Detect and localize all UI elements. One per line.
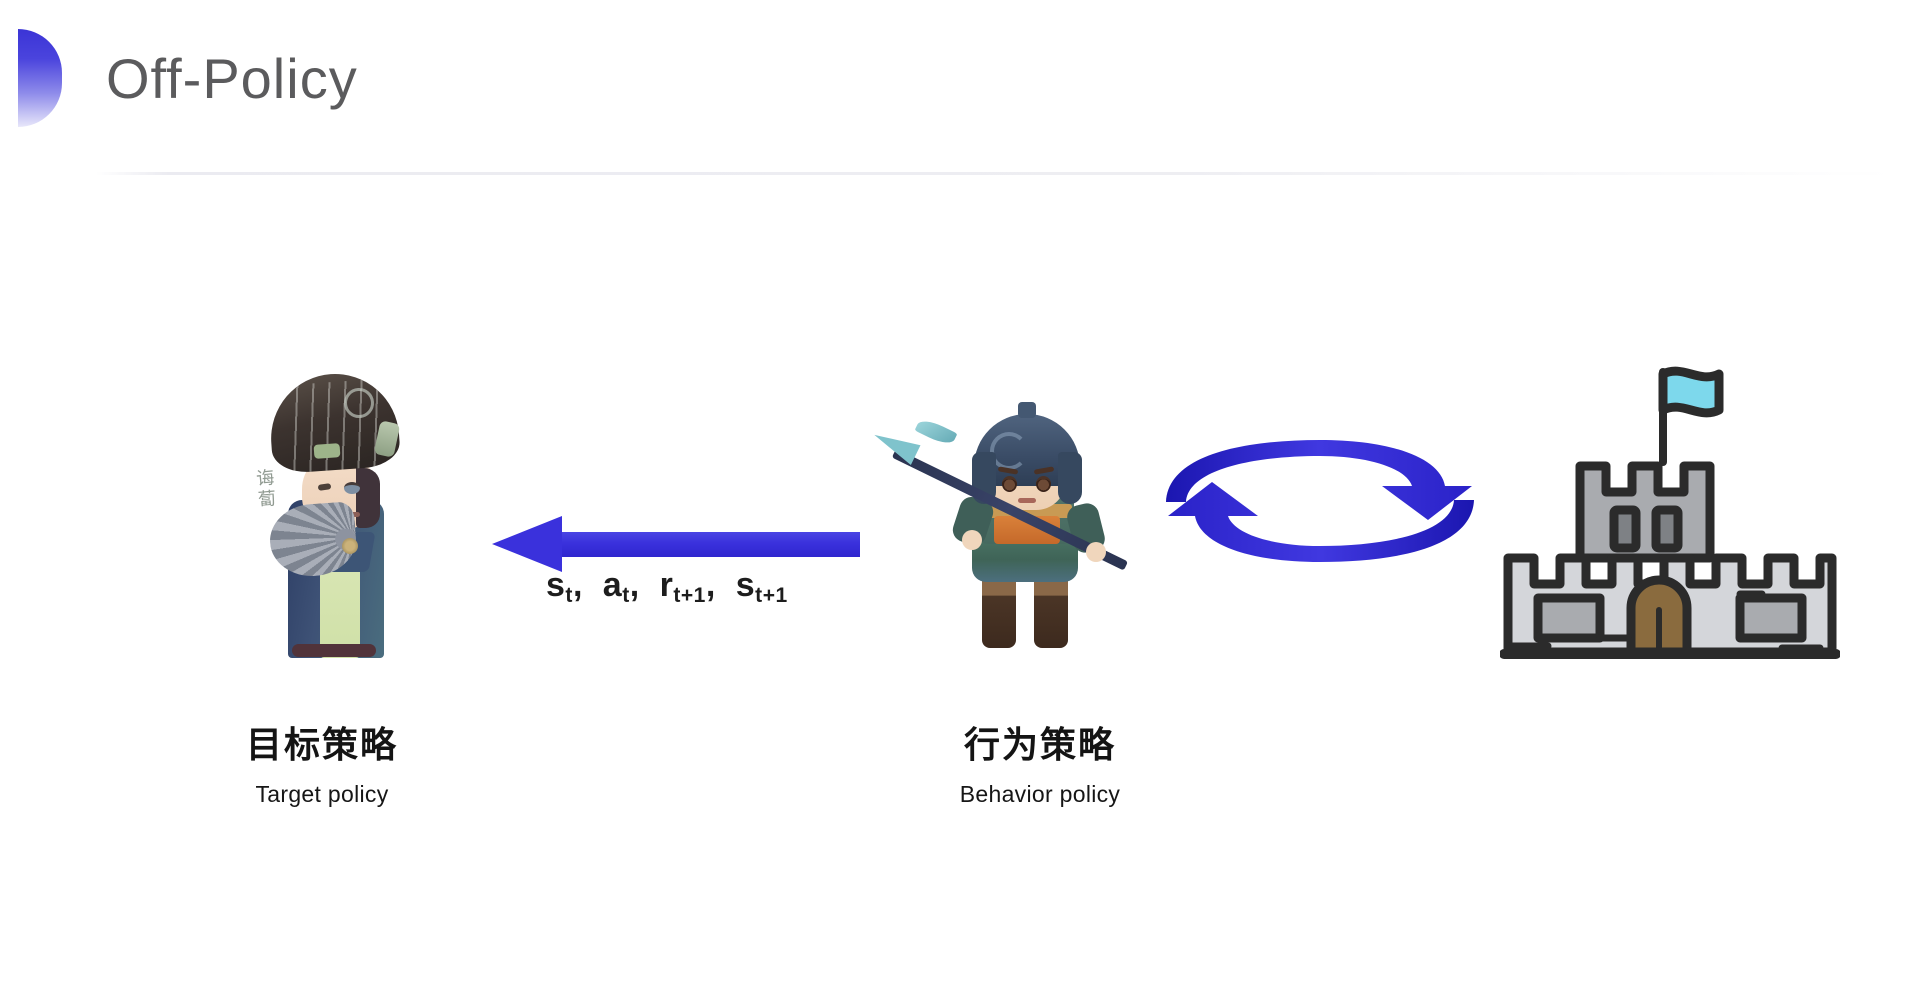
formula-term-state-t: st, [546,566,583,604]
caption-behavior-en: Behavior policy [880,781,1200,808]
transition-arrow-head [492,516,562,572]
castle-wall-window-left [1538,598,1600,638]
caption-behavior-cn: 行为策略 [880,722,1200,767]
strategist-eye-right [344,482,360,494]
strategist-figure: 诲 蔔 [248,372,408,658]
warrior-helmet-cheek-right [1058,452,1082,504]
formula-term-action-t: at, [593,566,640,604]
slide-root: Off-Policy 诲 蔔 [0,0,1920,984]
strategist-fan-hub [342,538,358,554]
strategist-hair [356,468,380,528]
warrior-mouth [1018,498,1036,503]
warrior-hand-right [1086,542,1106,562]
castle-flag [1663,371,1719,413]
warrior-eye-left [1002,476,1017,492]
warrior-eye-right [1036,476,1051,492]
strategist-hat-band [314,443,341,459]
diagram-stage: 诲 蔔 st, at, rt+1, st+1 [0,0,1920,984]
castle-tower-window-right [1656,510,1678,548]
caption-target-en: Target policy [162,781,482,808]
warrior-helmet-knob [1018,402,1036,418]
cycle-arrows-icon [1160,440,1480,562]
formula-term-reward-t1: rt+1, [650,566,716,604]
strategist-seal-text: 诲 蔔 [247,467,286,530]
warrior-figure [930,400,1120,650]
castle-tower-window-left [1614,510,1636,548]
caption-target-cn: 目标策略 [162,722,482,767]
transition-arrow-shaft [558,532,860,557]
caption-target-policy: 目标策略 Target policy [162,722,482,808]
castle-tower [1580,466,1710,558]
caption-behavior-policy: 行为策略 Behavior policy [880,722,1200,808]
castle-wall-window-right [1740,598,1802,638]
strategist-shoes [292,644,376,657]
transition-arrow [492,516,860,572]
formula-term-state-t1: st+1 [726,566,788,604]
warrior-spear-blade [915,416,958,448]
castle-icon [1500,362,1840,660]
warrior-hand-left [962,530,982,550]
transition-formula: st, at, rt+1, st+1 [546,566,788,605]
